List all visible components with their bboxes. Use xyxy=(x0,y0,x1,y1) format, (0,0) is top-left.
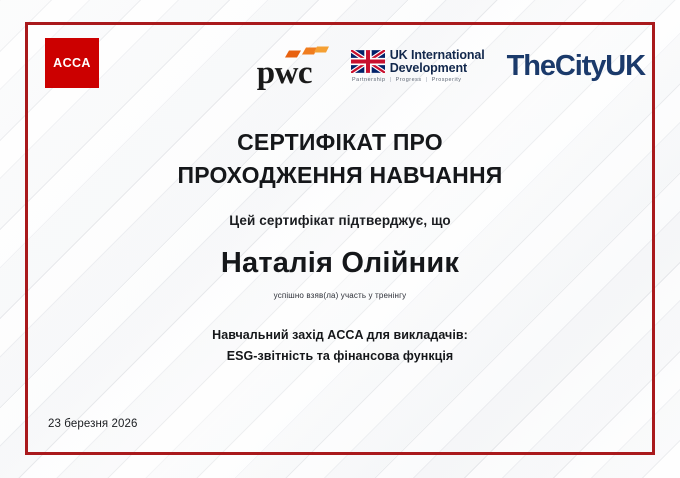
certificate-date: 23 березня 2026 xyxy=(48,418,138,430)
union-jack-flag-icon xyxy=(351,50,385,73)
ukid-line-1: UK International xyxy=(390,49,485,62)
ukid-tagline-prosperity: Prosperity xyxy=(432,77,462,83)
certificate-title-line-1: СЕРТИФІКАТ ПРО xyxy=(45,126,635,159)
ukid-line-2: Development xyxy=(390,62,485,75)
course-title: Навчальний захід ACCA для викладачів: ES… xyxy=(45,325,635,366)
certificate-title: СЕРТИФІКАТ ПРО ПРОХОДЖЕННЯ НАВЧАННЯ xyxy=(45,126,635,191)
uk-international-development-logo: UK International Development Partnership… xyxy=(351,40,485,92)
thecityuk-logo: TheCityUK xyxy=(507,52,645,81)
ukid-tagline-separator-1: | xyxy=(390,77,392,83)
acca-logo-text: ACCA xyxy=(53,56,91,70)
course-title-line-1: Навчальний захід ACCA для викладачів: xyxy=(45,325,635,346)
ukid-wordmark: UK International Development xyxy=(390,49,485,75)
course-title-line-2: ESG-звітність та фінансова функція xyxy=(45,346,635,367)
partner-logos-group: pwc UK International xyxy=(257,38,645,94)
certificate-confirm-line: Цей сертифікат підтверджує, що xyxy=(45,213,635,228)
logo-row: ACCA pwc xyxy=(45,38,635,94)
ukid-tagline-partnership: Partnership xyxy=(352,77,386,83)
acca-logo: ACCA xyxy=(45,38,99,88)
certificate-canvas: ACCA pwc xyxy=(0,0,680,478)
ukid-tagline-separator-2: | xyxy=(426,77,428,83)
ukid-tagline: Partnership | Progress | Prosperity xyxy=(351,77,463,83)
certificate-content: ACCA pwc xyxy=(0,0,680,478)
pwc-logo-text: pwc xyxy=(257,57,312,90)
certificate-title-line-2: ПРОХОДЖЕННЯ НАВЧАННЯ xyxy=(45,159,635,192)
certificate-body: СЕРТИФІКАТ ПРО ПРОХОДЖЕННЯ НАВЧАННЯ Цей … xyxy=(45,126,635,366)
participation-note: успішно взяв(ла) участь у тренінгу xyxy=(45,291,635,300)
ukid-tagline-progress: Progress xyxy=(396,77,422,83)
pwc-logo: pwc xyxy=(257,40,329,92)
ukid-main-row: UK International Development xyxy=(351,49,485,75)
recipient-name: Наталія Олійник xyxy=(45,248,635,280)
